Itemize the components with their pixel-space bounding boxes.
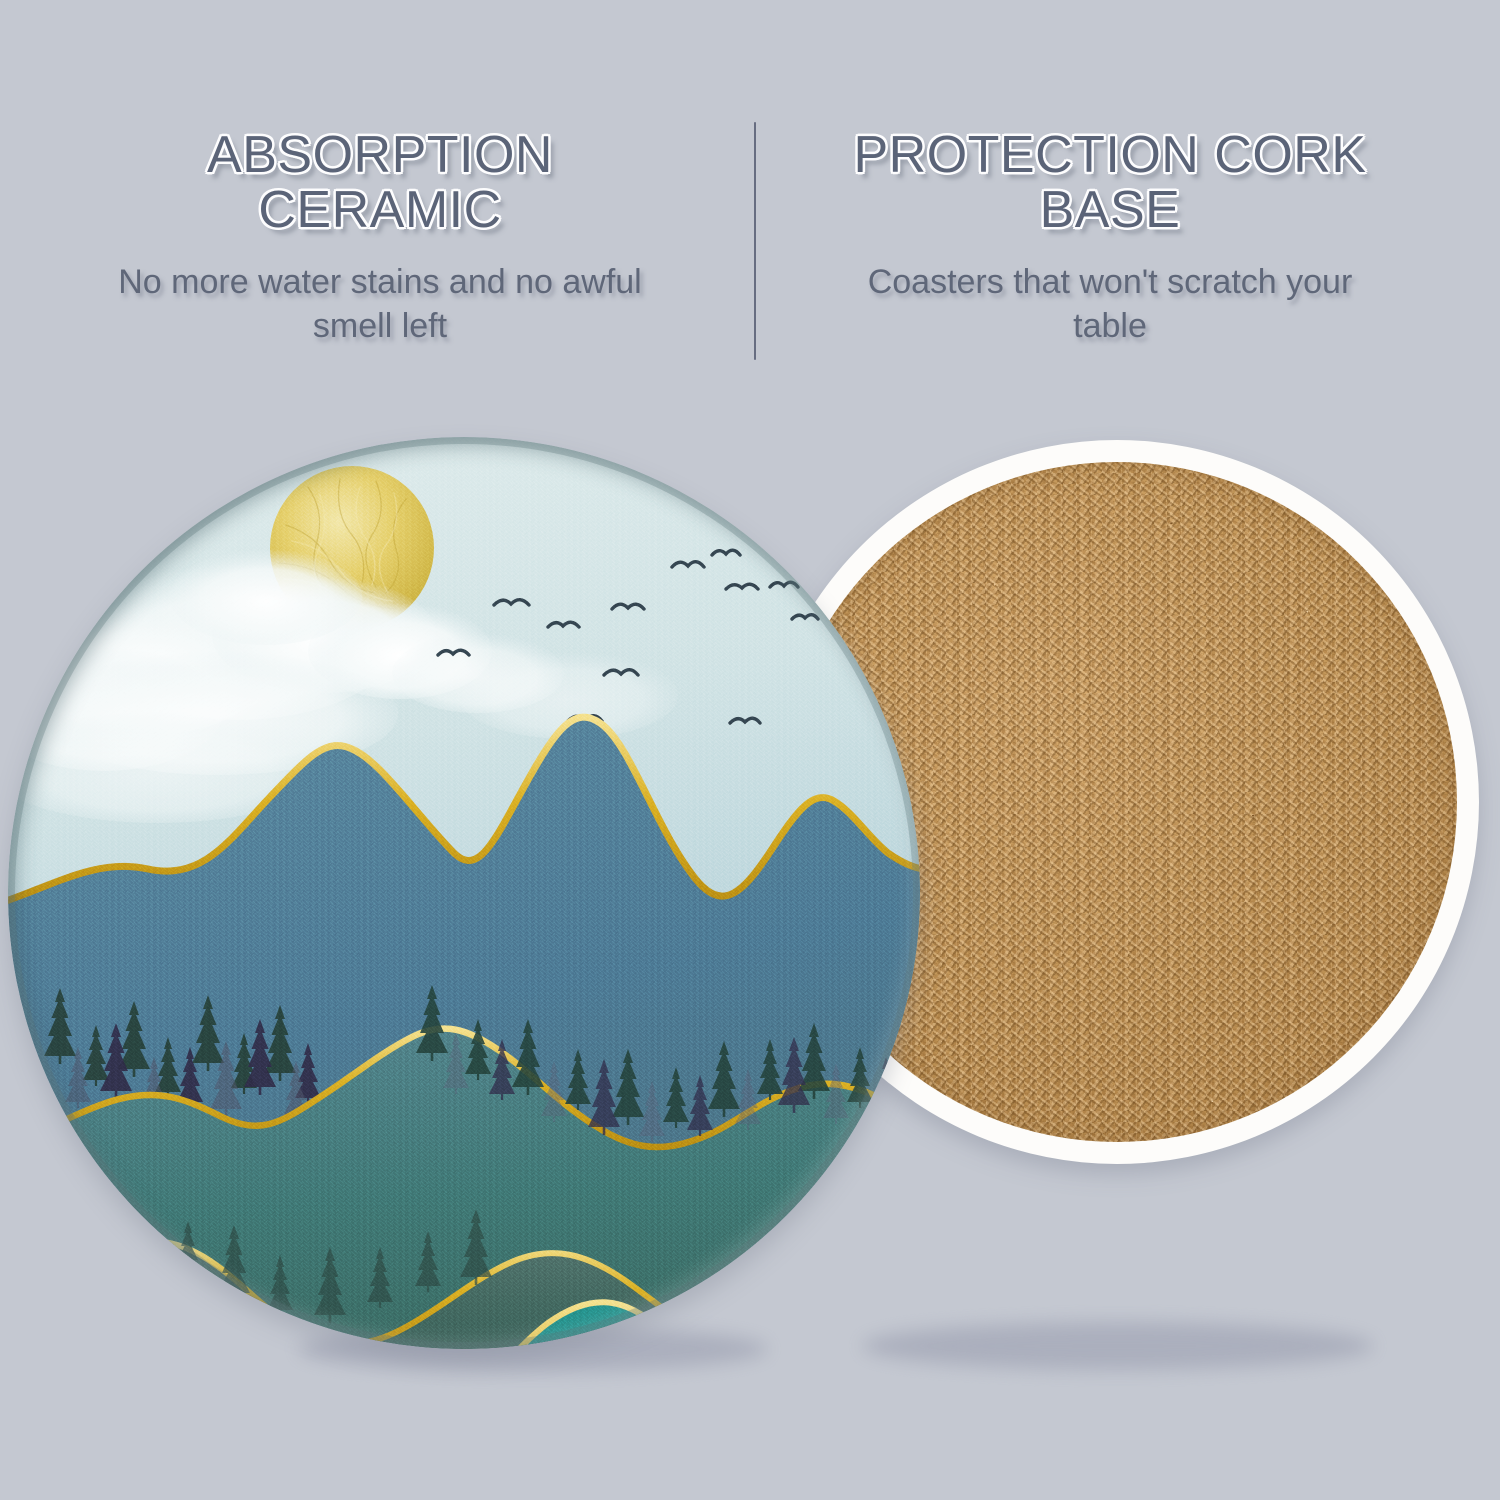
feature-panel-protection: PROTECTION CORK BASE Coasters that won't… [830, 128, 1390, 349]
feature-panel-absorption: ABSORPTION CERAMIC No more water stains … [100, 128, 660, 349]
cork-coaster-shadow [862, 1322, 1374, 1370]
absorption-headline: ABSORPTION CERAMIC [100, 128, 660, 238]
absorption-subline: No more water stains and no awful smell … [100, 260, 660, 348]
product-feature-image: ABSORPTION CERAMIC No more water stains … [0, 0, 1500, 1500]
protection-headline: PROTECTION CORK BASE [830, 128, 1390, 238]
protection-subline: Coasters that won't scratch your table [830, 260, 1390, 348]
ceramic-coaster-front[interactable] [8, 437, 920, 1349]
panel-divider [754, 122, 756, 360]
mountain-artwork [8, 437, 920, 1349]
